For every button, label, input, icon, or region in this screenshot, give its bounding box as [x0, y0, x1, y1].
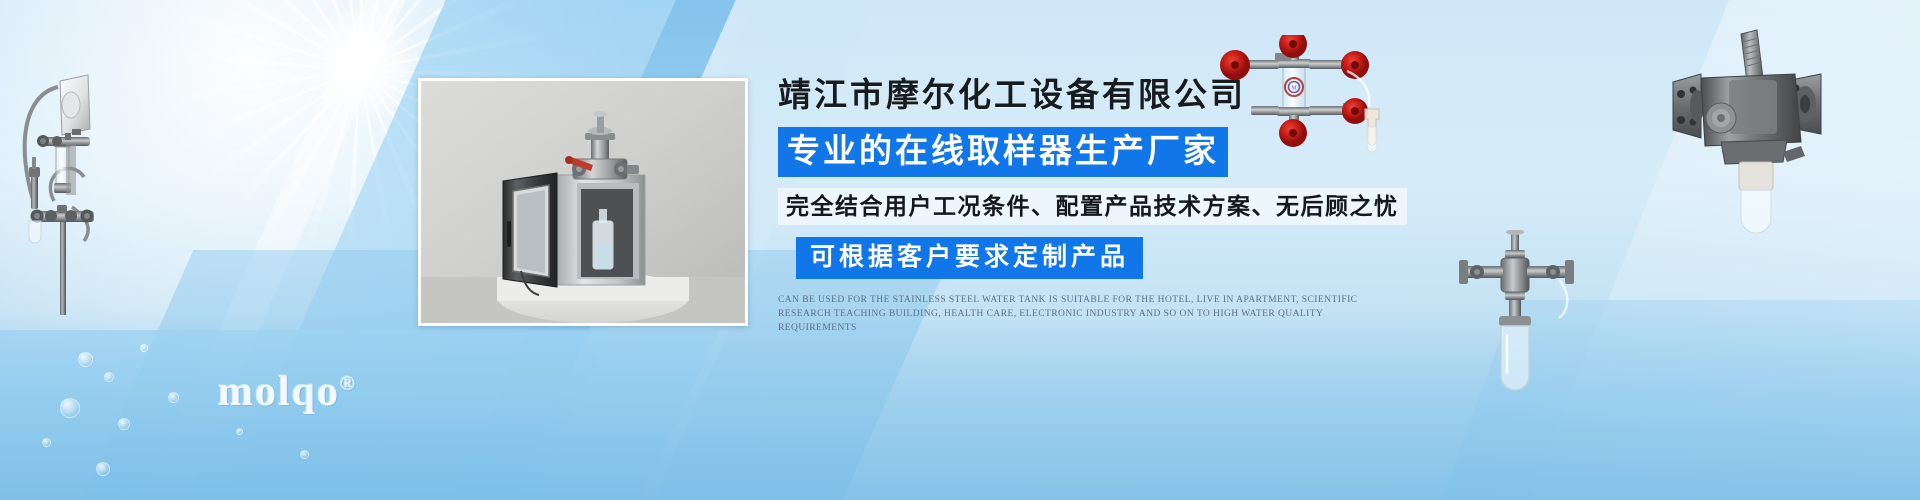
registered-trademark-icon: ® — [340, 373, 357, 395]
bubble-decor — [118, 418, 130, 430]
bubble-decor — [168, 392, 179, 403]
bubble-decor — [60, 398, 80, 418]
banner-text-block: 靖江市摩尔化工设备有限公司 专业的在线取样器生产厂家 完全结合用户工况条件、配置… — [778, 74, 1398, 335]
right-top-valve-image — [1655, 20, 1855, 240]
bubble-decor — [42, 438, 51, 447]
sun-core-icon — [300, 5, 420, 125]
bubble-decor — [236, 428, 243, 435]
bubble-decor — [96, 462, 110, 476]
english-description: CAN BE USED FOR THE STAINLESS STEEL WATE… — [778, 293, 1378, 335]
subheadline: 完全结合用户工况条件、配置产品技术方案、无后顾之忧 — [778, 188, 1407, 225]
bubble-decor — [300, 450, 309, 459]
bubble-decor — [78, 352, 93, 367]
bubble-decor — [104, 372, 114, 382]
company-name: 靖江市摩尔化工设备有限公司 — [778, 74, 1398, 118]
promo-banner: M — [0, 0, 1920, 500]
center-product-photo — [418, 78, 748, 326]
headline-badge: 专业的在线取样器生产厂家 — [778, 127, 1228, 177]
custom-product-badge: 可根据客户要求定制产品 — [796, 237, 1143, 279]
background-corner-left — [0, 330, 720, 500]
watermark-text: molqo — [218, 369, 340, 415]
right-bottom-valve-image — [1455, 230, 1585, 400]
brand-watermark: molqo® — [218, 368, 357, 416]
left-product-image — [10, 25, 210, 315]
bubble-decor — [140, 344, 148, 352]
